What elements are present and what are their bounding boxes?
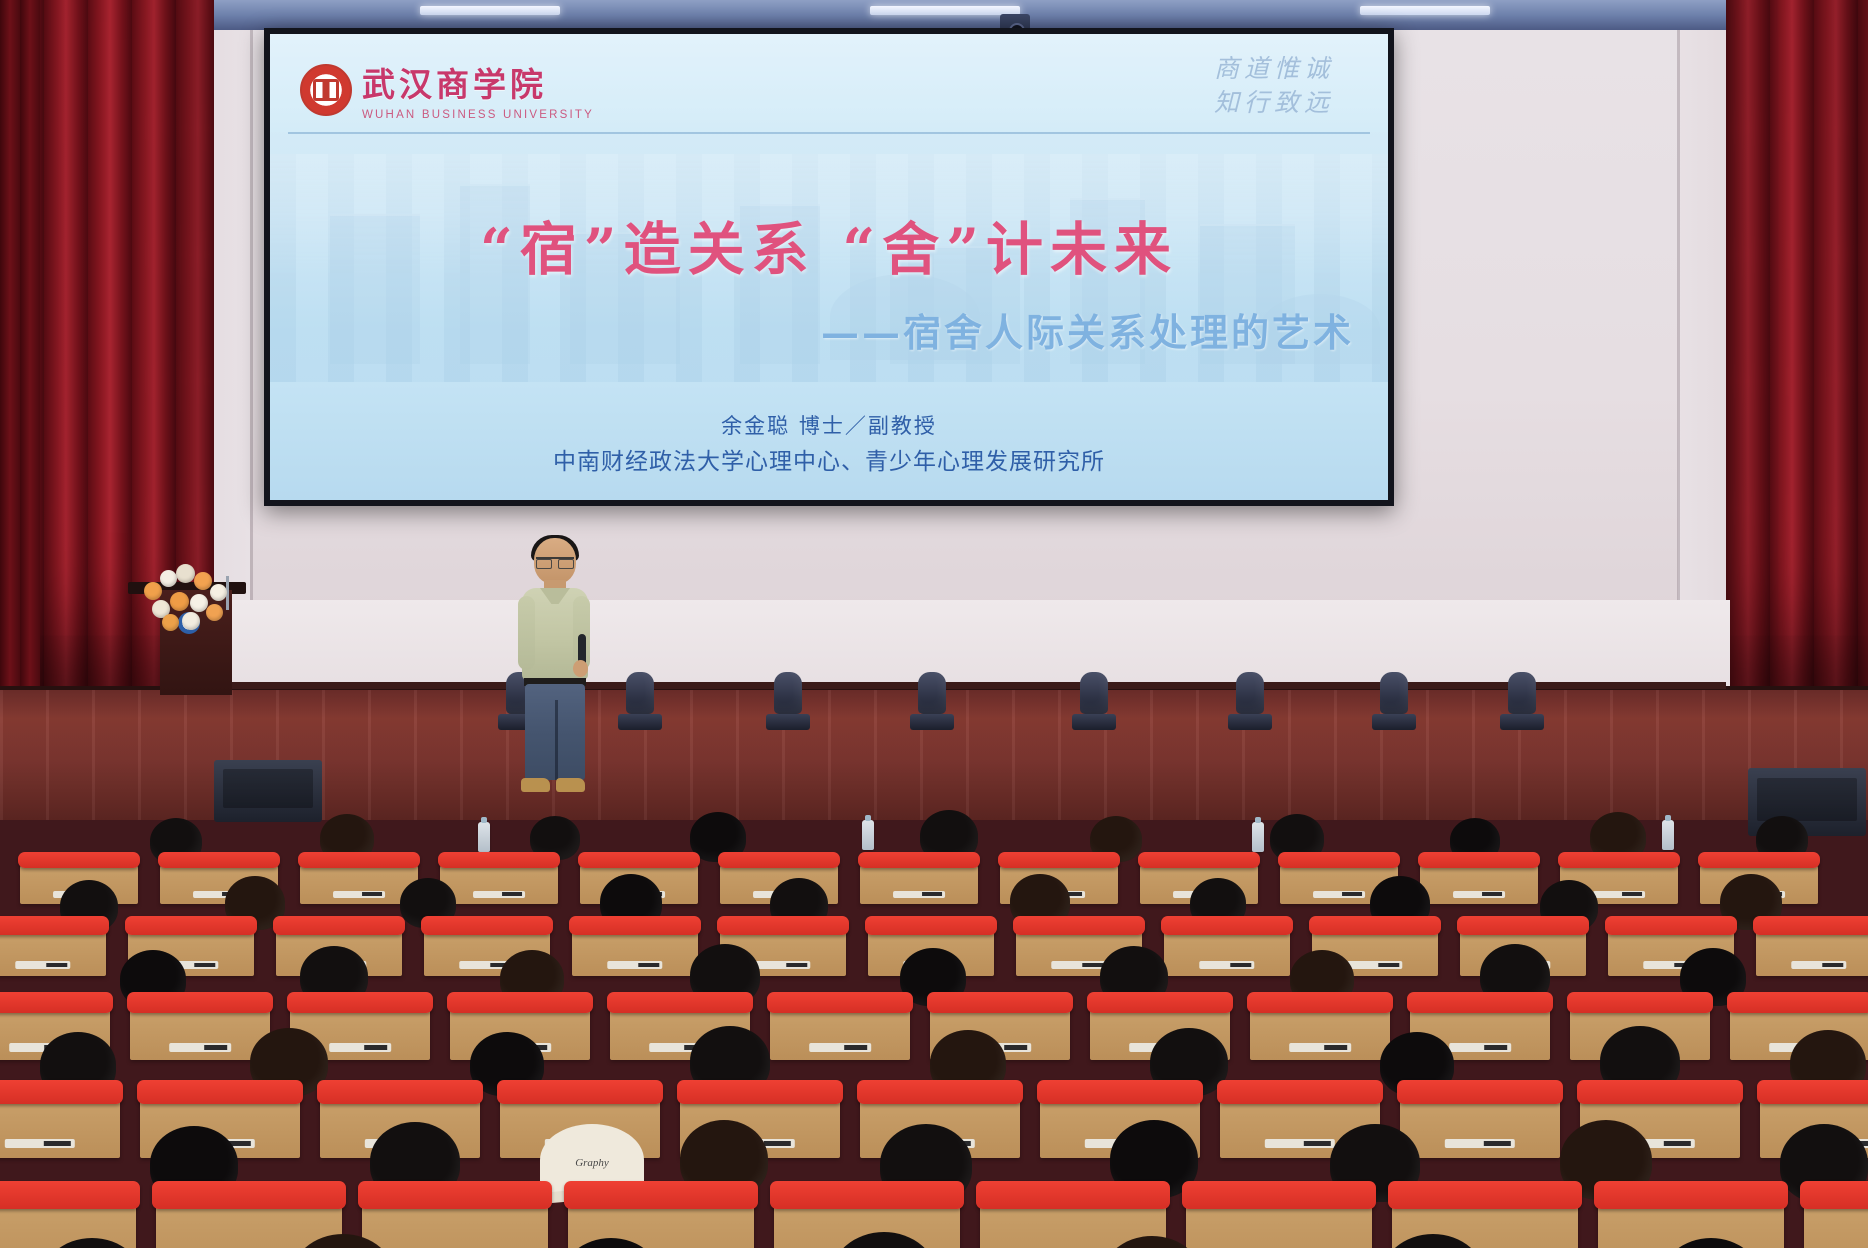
auditorium-seat[interactable] <box>1186 1202 1372 1248</box>
slide-subtitle: ——宿舍人际关系处理的艺术 <box>821 302 1354 357</box>
university-motto: 商道惟诚 知行致远 <box>1214 52 1334 120</box>
auditorium-seat[interactable] <box>362 1202 548 1248</box>
audience-seating: Graphy <box>0 790 1868 1248</box>
slide-divider <box>288 132 1370 134</box>
auditorium-seat[interactable] <box>0 930 106 976</box>
wall-seam <box>250 30 253 690</box>
university-seal-icon <box>300 64 352 116</box>
auditorium-seat[interactable] <box>770 1008 910 1060</box>
flower-arrangement <box>140 560 232 634</box>
auditorium-seat[interactable] <box>1164 930 1290 976</box>
presenter-glasses <box>536 557 574 566</box>
stage-uplight <box>910 672 954 730</box>
university-logo-block: 武汉商学院 WUHAN BUSINESS UNIVERSITY <box>300 58 594 121</box>
stage-uplight <box>618 672 662 730</box>
motto-line-2: 知行致远 <box>1214 86 1334 120</box>
university-name-cn: 武汉商学院 <box>362 58 594 106</box>
stage-uplight <box>1072 672 1116 730</box>
auditorium-seat[interactable] <box>572 930 698 976</box>
presenter-person <box>508 538 600 800</box>
water-bottle <box>1662 820 1674 850</box>
stage-uplight <box>1228 672 1272 730</box>
stage-curtain-right <box>1726 0 1868 700</box>
auditorium-seat[interactable] <box>440 864 558 904</box>
motto-line-1: 商道惟诚 <box>1214 52 1334 86</box>
auditorium-seat[interactable] <box>860 864 978 904</box>
water-bottle <box>478 822 490 852</box>
ceiling-light-strip <box>870 6 1020 15</box>
auditorium-seat[interactable] <box>0 1098 120 1158</box>
auditorium-seat[interactable] <box>0 1202 136 1248</box>
auditorium-seat[interactable] <box>1250 1008 1390 1060</box>
auditorium-scene: 武汉商学院 WUHAN BUSINESS UNIVERSITY 商道惟诚 知行致… <box>0 0 1868 1248</box>
slide-title: “宿”造关系 “舍”计未来 <box>270 204 1388 286</box>
stage-uplight <box>1372 672 1416 730</box>
wall-seam <box>1677 30 1680 690</box>
presenter-arm-left <box>518 596 535 670</box>
slide-presenter-block: 余金聪 博士／副教授 中南财经政法大学心理中心、青少年心理发展研究所 <box>270 409 1388 482</box>
presenter-jeans <box>525 684 585 780</box>
auditorium-seat[interactable] <box>1400 1098 1560 1158</box>
presenter-name: 余金聪 博士／副教授 <box>270 409 1388 444</box>
presenter-hand <box>573 660 588 677</box>
auditorium-seat[interactable] <box>1420 864 1538 904</box>
auditorium-seat[interactable] <box>1756 930 1868 976</box>
auditorium-seat[interactable] <box>130 1008 270 1060</box>
presentation-slide: 武汉商学院 WUHAN BUSINESS UNIVERSITY 商道惟诚 知行致… <box>270 34 1388 500</box>
ceiling-light-strip <box>420 6 560 15</box>
cap-logo-text: Graphy <box>540 1157 644 1169</box>
stage-uplight <box>1500 672 1544 730</box>
water-bottle <box>862 820 874 850</box>
stage-uplight <box>766 672 810 730</box>
university-name-en: WUHAN BUSINESS UNIVERSITY <box>362 109 594 121</box>
stage-curtain-far-left <box>0 0 40 720</box>
ceiling-light-strip <box>1360 6 1490 15</box>
presenter-affiliation: 中南财经政法大学心理中心、青少年心理发展研究所 <box>270 444 1388 482</box>
projection-screen-frame: 武汉商学院 WUHAN BUSINESS UNIVERSITY 商道惟诚 知行致… <box>264 28 1394 506</box>
water-bottle <box>1252 822 1264 852</box>
auditorium-seat[interactable] <box>1804 1202 1868 1248</box>
